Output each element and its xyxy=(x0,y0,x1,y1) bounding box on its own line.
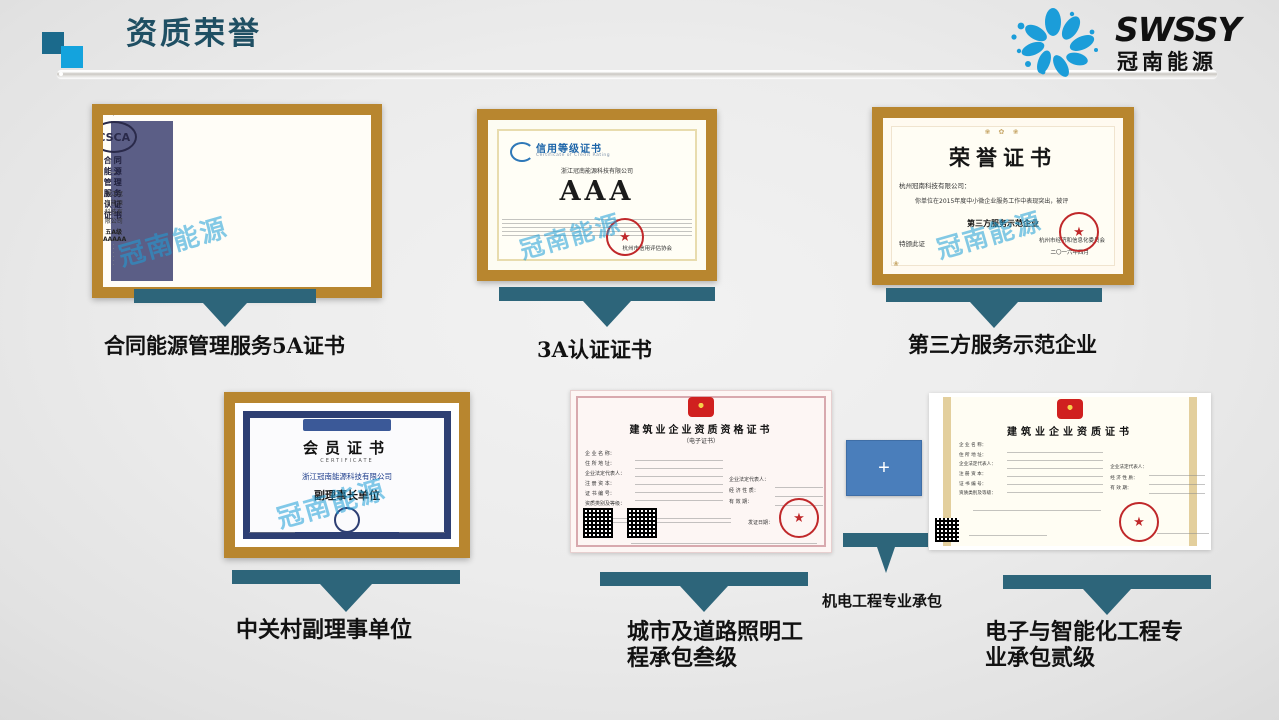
company-logo: SWSSY 冠南能源 xyxy=(997,6,1267,78)
red-seal-icon: ★ xyxy=(606,218,644,256)
qr-code-right xyxy=(935,518,959,542)
field-legal-right: 企业法定代表人： xyxy=(729,475,769,486)
certificate-note: 特颁此证 xyxy=(899,238,925,248)
certificate-field-labels-right: 企业法定代表人： 经 济 性 质： 有 效 期： xyxy=(729,475,769,508)
field-address: 住 所 地 址： xyxy=(585,459,625,469)
red-seal-icon: ★ xyxy=(92,104,110,110)
caption-cert-3a: 3A认证证书 xyxy=(537,338,797,363)
certificate-image-cert-lighting[interactable]: 建筑业企业资质资格证书 （电子证书） 企 业 名 称： 住 所 地 址： 企业法… xyxy=(570,390,832,553)
field-certno: 证 书 编 号： xyxy=(959,480,996,490)
field-legal-right: 企业法定代表人： xyxy=(1110,463,1147,474)
certificate-title: 会员证书 xyxy=(235,437,459,458)
certificate-award: 副理事长单位 xyxy=(235,487,459,503)
page-title: 资质荣誉 xyxy=(126,19,262,50)
certificate-image-cert-3a[interactable]: 信用等级证书 Certificate of Credit Rating 浙江冠南… xyxy=(477,109,717,281)
logo-wordmark: SWSSY xyxy=(1115,10,1240,49)
certificate-company: 浙江冠南能源科技有限公司 xyxy=(235,471,459,482)
plus-icon: + xyxy=(878,458,890,478)
certificate-image-cert-honor[interactable]: ❀ ✿ ❀ 荣誉证书 杭州冠南科技有限公司： 你单位在2015年度中小微企业服务… xyxy=(872,107,1134,285)
certificate-title: 建筑业企业资质资格证书 xyxy=(571,421,831,436)
certificate-title: 荣誉证书 xyxy=(883,142,1123,172)
red-seal-icon: ★ xyxy=(1119,502,1159,542)
field-economic: 经 济 性 质： xyxy=(729,486,769,497)
certificate-grade: AAA xyxy=(488,176,706,207)
red-seal-icon: ★ xyxy=(1059,212,1099,252)
floral-ornament: ❀ ✿ ❀ xyxy=(883,128,1123,136)
field-legal: 企业法定代表人： xyxy=(959,460,996,470)
arrow-cert-honor xyxy=(886,288,1102,328)
certificate-image-cert-member[interactable]: 会员证书 CERTIFICATE 浙江冠南能源科技有限公司 副理事长单位 冠南能… xyxy=(224,392,470,558)
certificate-image-cert-electronics[interactable]: 建筑业企业资质证书 企 业 名 称： 住 所 地 址： 企业法定代表人： 注 册… xyxy=(929,393,1211,550)
field-valid: 有 效 期： xyxy=(729,497,769,508)
field-scope: 资质类别及等级： xyxy=(959,489,996,499)
ribbon-banner xyxy=(303,419,391,431)
field-valid: 有 效 期： xyxy=(1110,484,1147,495)
certificate-issue-date-label: 发证日期： xyxy=(748,519,773,526)
field-certno: 证 书 编 号： xyxy=(585,489,625,499)
field-capital: 注 册 资 本： xyxy=(585,479,625,489)
certificate-company: 浙江冠南能源科技有限公司 xyxy=(488,166,706,175)
arrow-cert-5a xyxy=(134,289,316,327)
field-name: 企 业 名 称： xyxy=(585,449,625,459)
qr-code-right xyxy=(627,508,657,538)
field-name: 企 业 名 称： xyxy=(959,441,996,451)
arrow-cert-electronics xyxy=(1003,575,1211,615)
arrow-cert-lighting xyxy=(600,572,808,612)
caption-cert-5a: 合同能源管理服务5A证书 xyxy=(104,334,404,359)
caption-cert-electronics: 电子与智能化工程专 业承包贰级 xyxy=(985,620,1235,672)
certificate-title: 建筑业企业资质证书 xyxy=(929,423,1211,438)
field-address: 住 所 地 址： xyxy=(959,451,996,461)
field-legal: 企业法定代表人： xyxy=(585,469,625,479)
caption-cert-lighting: 城市及道路照明工 程承包叁级 xyxy=(627,620,857,672)
certificate-field-labels: 企 业 名 称： 住 所 地 址： 企业法定代表人： 注 册 资 本： 证 书 … xyxy=(585,449,625,509)
floral-ornament-bottom: ❀ xyxy=(893,260,899,268)
national-emblem-icon xyxy=(688,397,714,417)
arrow-extra-label xyxy=(843,533,928,573)
certificate-body: 你单位在2015年度中小微企业服务工作中表现突出，被评 xyxy=(915,198,1111,206)
add-button[interactable]: + xyxy=(846,440,922,496)
certificate-field-labels-right: 企业法定代表人： 经 济 性 质： 有 效 期： xyxy=(1110,463,1147,495)
csca-seal-icon: CSCA xyxy=(92,121,137,153)
certificate-subtitle: （电子证书） xyxy=(571,436,831,445)
field-economic: 经 济 性 质： xyxy=(1110,474,1147,485)
caption-cert-honor: 第三方服务示范企业 xyxy=(908,333,1188,358)
credit-rating-icon xyxy=(510,142,534,162)
arrow-cert-member xyxy=(232,570,460,612)
qr-code-left xyxy=(583,508,613,538)
arrow-cert-3a xyxy=(499,287,715,327)
org-seal-icon xyxy=(334,507,360,533)
logo-chinese-name: 冠南能源 xyxy=(1117,46,1217,76)
header-square-light xyxy=(61,46,83,68)
certificate-title-en: CERTIFICATE xyxy=(235,458,459,464)
national-emblem-icon xyxy=(1057,399,1083,419)
caption-cert-member: 中关村副理事单位 xyxy=(236,618,536,644)
caption-extra-label: 机电工程专业承包 xyxy=(822,593,1002,611)
certificate-title-en: Certificate of Credit Rating xyxy=(536,153,610,158)
slide-root: 资质荣誉 SWSSY 冠南能 xyxy=(0,0,1279,720)
water-droplet-burst-icon xyxy=(997,6,1109,78)
red-seal-icon: ★ xyxy=(779,498,819,538)
field-capital: 注 册 资 本： xyxy=(959,470,996,480)
certificate-field-labels: 企 业 名 称： 住 所 地 址： 企业法定代表人： 注 册 资 本： 证 书 … xyxy=(959,441,996,499)
certificate-image-cert-5a[interactable]: CSCA 合同能源管理服务认证证书 浙江冠南能源科技有限公司 五A级 AAAAA… xyxy=(92,104,382,298)
certificate-company: 杭州冠南科技有限公司： xyxy=(899,180,971,190)
